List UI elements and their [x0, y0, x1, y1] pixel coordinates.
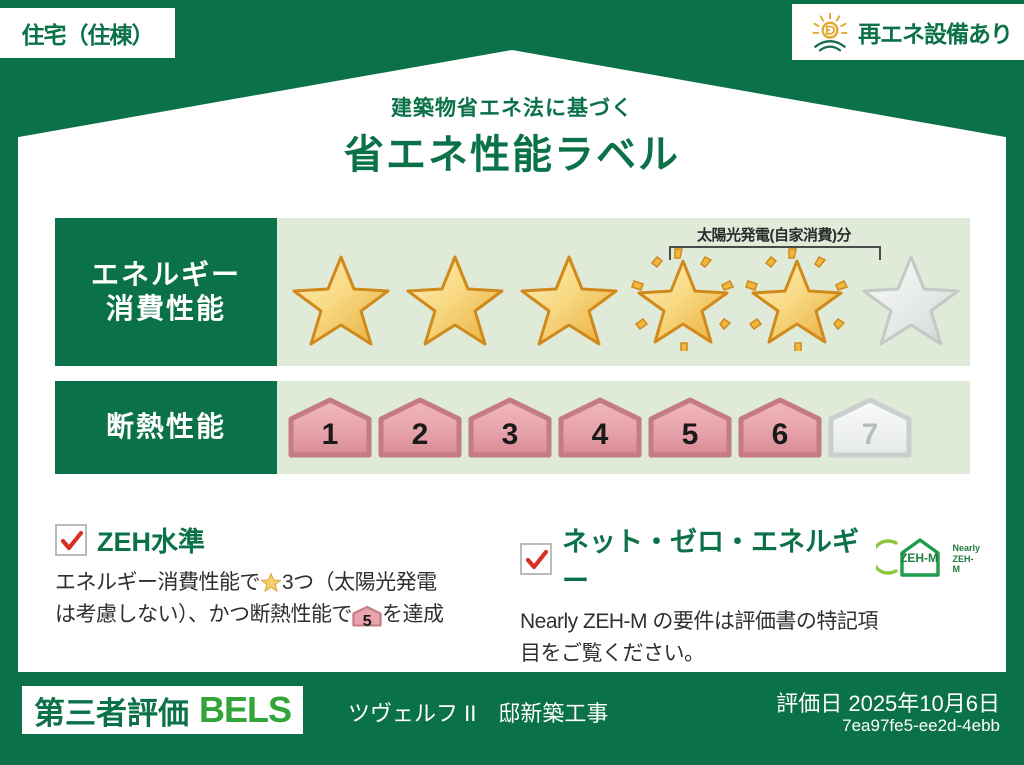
check-icon: [59, 528, 85, 554]
zeh-desc-part1: エネルギー消費性能で: [55, 571, 260, 594]
zehm-logo-icon: ZEH-M: [876, 535, 942, 584]
inline-grade-badge: 5: [352, 604, 382, 628]
checkbox-net-zero-energy[interactable]: [520, 543, 552, 575]
nze-desc-line1: Nearly ZEH-M の要件は評価書の特記項: [520, 610, 878, 633]
zeh-standard-header: ZEH水準: [55, 520, 495, 559]
star-3: [515, 247, 623, 351]
net-zero-energy-header: ネット・ゼロ・エネルギー ZEH-M Nearly ZEH-M: [520, 520, 980, 598]
grade-value: 6: [772, 420, 789, 459]
inline-star-icon: [260, 571, 282, 593]
zeh-standard-description: エネルギー消費性能で 3つ（太陽光発電 は考慮しない）、かつ断熱性能で 5を達成: [55, 567, 495, 630]
star-2: [401, 247, 509, 351]
page-title: 省エネ性能ラベル: [0, 122, 1024, 180]
nze-desc-line2: 目をご覧ください。: [520, 642, 705, 665]
grade-value: 5: [682, 420, 699, 459]
net-zero-energy-block: ネット・ゼロ・エネルギー ZEH-M Nearly ZEH-M Nearly Z…: [520, 520, 980, 669]
footer-bar: 第三者評価 BELS ツヴェルフ II 邸新築工事 評価日 2025年10月6日…: [0, 672, 1024, 765]
inline-grade-value: 5: [363, 613, 371, 630]
energy-label-line2: 消費性能: [106, 292, 226, 326]
badge-building-type: 住宅（住棟）: [0, 8, 175, 58]
grade-scale: 1 2 3 4: [277, 397, 913, 459]
grade-badge-5: 5: [647, 397, 733, 459]
bels-jp-label: 第三者評価: [34, 688, 189, 733]
title-subtitle: 建築物省エネ法に基づく: [0, 92, 1024, 122]
zehm-caption-line1: Nearly: [952, 543, 980, 553]
star-1: [287, 247, 395, 351]
grade-value: 2: [412, 420, 429, 459]
energy-performance-label: エネルギー 消費性能: [55, 218, 277, 366]
zeh-standard-block: ZEH水準 エネルギー消費性能で 3つ（太陽光発電 は考慮しない）、かつ断熱性能…: [55, 520, 495, 630]
zeh-desc-part2: 3つ（太陽光発電: [282, 571, 437, 594]
grade-value: 4: [592, 420, 609, 459]
bels-certification-badge: 第三者評価 BELS: [22, 686, 303, 734]
insulation-performance-row: 断熱性能 1 2: [55, 381, 970, 474]
net-zero-energy-title: ネット・ゼロ・エネルギー: [562, 520, 866, 598]
evaluation-id: 7ea97fe5-ee2d-4ebb: [842, 716, 1000, 736]
energy-label-line1: エネルギー: [91, 258, 241, 292]
grade-value: 7: [862, 420, 879, 459]
star-4-solar: [629, 247, 737, 351]
grade-value: 1: [322, 420, 339, 459]
grade-badge-6: 6: [737, 397, 823, 459]
checkbox-zeh-standard[interactable]: [55, 524, 87, 556]
grade-badge-1: 1: [287, 397, 373, 459]
insulation-grade-area: 1 2 3 4: [277, 381, 970, 474]
zeh-desc-part4: を達成: [382, 603, 444, 626]
badge-renewable-equipment: 再エネ設備あり: [792, 4, 1024, 60]
zeh-standard-title: ZEH水準: [97, 520, 205, 559]
star-5-solar: [743, 247, 851, 351]
grade-value: 3: [502, 420, 519, 459]
grade-badge-7: 7: [827, 397, 913, 459]
solar-generation-note: 太陽光発電(自家消費)分: [659, 224, 889, 245]
grade-badge-2: 2: [377, 397, 463, 459]
project-name: ツヴェルフ II 邸新築工事: [348, 696, 608, 728]
evaluation-date: 評価日 2025年10月6日: [776, 686, 1000, 718]
net-zero-energy-description: Nearly ZEH-M の要件は評価書の特記項 目をご覧ください。: [520, 606, 980, 669]
badge-renewable-label: 再エネ設備あり: [858, 15, 1012, 49]
svg-text:ZEH-M: ZEH-M: [900, 551, 938, 565]
badge-building-type-label: 住宅（住棟）: [22, 16, 154, 50]
star-rating: [277, 247, 965, 351]
sun-solar-icon: [808, 10, 852, 54]
bels-en-label: BELS: [199, 689, 291, 731]
grade-badge-4: 4: [557, 397, 643, 459]
check-icon: [524, 547, 550, 573]
zehm-caption-line2: ZEH-M: [952, 554, 973, 574]
grade-badge-3: 3: [467, 397, 553, 459]
star-6-empty: [857, 247, 965, 351]
energy-performance-row: エネルギー 消費性能 太陽光発電(自家消費)分: [55, 218, 970, 366]
zehm-logo-caption: Nearly ZEH-M: [952, 543, 980, 574]
zeh-desc-part3: は考慮しない）、かつ断熱性能で: [55, 603, 352, 626]
energy-rating-area: 太陽光発電(自家消費)分: [277, 218, 970, 366]
insulation-performance-label: 断熱性能: [55, 381, 277, 474]
